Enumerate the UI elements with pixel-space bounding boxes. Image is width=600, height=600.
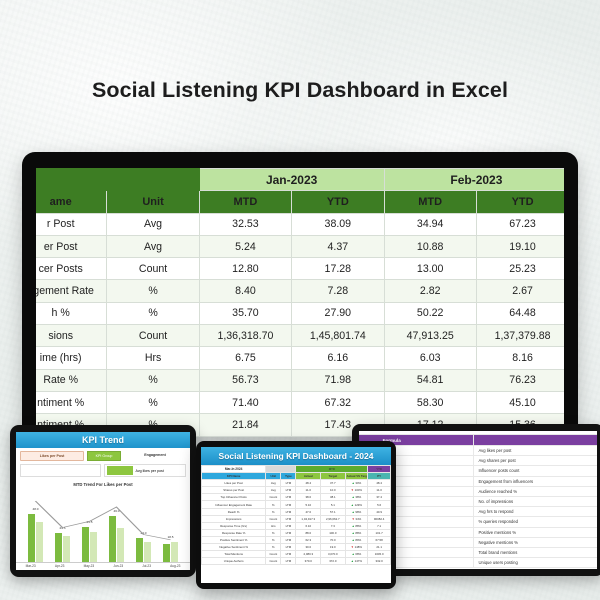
cell-py: 48.4	[368, 480, 391, 487]
cell-py: 101.7	[368, 529, 391, 536]
cell-value: 13.00	[384, 258, 476, 280]
table-row: sionsCount1,36,318.701,45,801.7447,913.2…	[36, 325, 564, 347]
cell-description: Avg likes per post	[474, 446, 597, 456]
page-title: Social Listening KPI Dashboard in Excel	[0, 78, 600, 103]
cell-value: 64.48	[476, 302, 564, 324]
trend-chart-plot: 48.029.535.546.024.018.5	[22, 488, 184, 562]
cell-vs-target: ▼ 100%	[345, 487, 368, 494]
cell-value: 47,913.25	[384, 325, 476, 347]
cell-value: 2.82	[384, 280, 476, 302]
cell-description: Avg hrs to respond	[474, 507, 597, 517]
table-row: ime (hrs)Hrs6.756.166.038.167.1118.3	[36, 347, 564, 369]
dashboard-2024-title: Social Listening KPI Dashboard - 2024	[201, 447, 391, 465]
cell-kpi-name: cer Posts	[36, 258, 107, 280]
cell-vs-target: ▲ 98%	[345, 508, 368, 515]
cell-kpi-name: Positive Sentiment %	[202, 536, 266, 543]
cell-value: 54.81	[384, 369, 476, 391]
table-row: Rate %%56.7371.9854.8176.23101.7095.4	[36, 369, 564, 391]
cell-py: 37.4	[368, 494, 391, 501]
cell-actual: 48.4	[296, 480, 321, 487]
kpi-group-slicer[interactable]: KPI Group	[87, 451, 121, 461]
arrow-up-icon: ▲	[352, 481, 355, 485]
cell-value: 8.40	[199, 280, 291, 302]
cell-value: 58.30	[384, 391, 476, 413]
cell-value: 76.23	[476, 369, 564, 391]
cell-type: LTM	[281, 515, 296, 522]
kpi-filter-pill[interactable]: Likes per Post	[20, 451, 84, 461]
cell-value: 5.24	[199, 235, 291, 257]
cell-py: 67.58	[368, 536, 391, 543]
arrow-down-icon: ▼	[352, 517, 355, 521]
x-tick-label: Mar-23	[26, 564, 36, 568]
cell-kpi-name: Likes per Post	[202, 480, 266, 487]
cell-target: 57.1	[321, 508, 346, 515]
month-header-row: Jan-2023 Feb-2023 Mar-2023	[36, 169, 564, 191]
description-col-header	[474, 435, 597, 446]
laptop-device: Jan-2023 Feb-2023 Mar-2023 ame Unit MTD …	[22, 152, 578, 437]
cell-type: LTM	[281, 501, 296, 508]
dash-col-type: Type	[281, 473, 296, 480]
cell-py: 40.9	[368, 508, 391, 515]
cell-kpi-name: Negative Sentiment %	[202, 544, 266, 551]
cell-kpi-name: sions	[36, 325, 107, 347]
cell-type: LTM	[281, 480, 296, 487]
cell-unit: Count	[266, 558, 281, 565]
cell-vs-target: ▼ 148%	[345, 544, 368, 551]
cell-kpi-name: Top Influencer Posts	[202, 494, 266, 501]
cell-description: Audience reached %	[474, 486, 597, 496]
cell-py: 7.1	[368, 522, 391, 529]
cell-unit: Avg	[266, 487, 281, 494]
cell-actual: 5.10	[296, 501, 321, 508]
cell-unit: Avg	[266, 480, 281, 487]
dash-col-actual: Actual	[296, 473, 321, 480]
dash-col-unit: Unit	[266, 473, 281, 480]
cell-target: 37.7	[321, 480, 346, 487]
cell-unit: Hrs	[266, 522, 281, 529]
cell-value: 50.22	[384, 302, 476, 324]
kpi-trend-filter-row: Likes per Post KPI Group Engagement	[16, 448, 190, 464]
cell-value: 67.32	[292, 391, 384, 413]
cell-value: 67.23	[476, 213, 564, 235]
cell-target: 5.1	[321, 501, 346, 508]
cell-unit: %	[266, 536, 281, 543]
cell-target: 372.0	[321, 558, 346, 565]
cell-description: Influencer posts count	[474, 466, 597, 476]
measure-button[interactable]	[107, 466, 133, 475]
cell-unit: %	[266, 508, 281, 515]
cell-kpi-name: Total Mentions	[202, 551, 266, 558]
cell-actual: 30.0	[296, 544, 321, 551]
x-tick-label: Jun-23	[113, 564, 123, 568]
kpi-measure-box: Avg likes per post	[104, 464, 187, 477]
table-row: Shares per PostAvgLTM11.010.0▼ 100%11.0	[202, 487, 391, 494]
cell-value: 71.40	[199, 391, 291, 413]
kpi-trend-title: KPI Trend	[16, 432, 190, 448]
cell-py: 5.6	[368, 501, 391, 508]
cell-unit: Avg	[107, 213, 199, 235]
arrow-up-icon: ▲	[352, 552, 355, 556]
cell-value: 7.28	[292, 280, 384, 302]
table-row: Top Influencer PostsCountLTM38.038.1▲ 38…	[202, 494, 391, 501]
cell-kpi-name: h %	[36, 302, 107, 324]
table-row: Influencer Engagement Rate%LTM5.105.1▲ 1…	[202, 501, 391, 508]
tablet-left-device: KPI Trend Likes per Post KPI Group Engag…	[10, 425, 196, 577]
cell-value: 1,45,801.74	[292, 325, 384, 347]
col-header-name: ame	[36, 191, 107, 213]
cell-kpi-name: er Post	[36, 235, 107, 257]
cell-value: 71.98	[292, 369, 384, 391]
col-header-unit: Unit	[107, 191, 199, 213]
cell-actual: 38.0	[296, 494, 321, 501]
cell-target: 2,96,662.7	[321, 515, 346, 522]
cell-vs-target: ▲ 88%	[345, 529, 368, 536]
table-row: Response Rate %%LTM88.0100.0▲ 88%101.7	[202, 529, 391, 536]
dash-col-vs: Actual VS Target	[345, 473, 368, 480]
cell-description: Avg shares per post	[474, 456, 597, 466]
cell-actual: 47.0	[296, 508, 321, 515]
table-row: r PostAvg32.5338.0934.9467.2348.36152.	[36, 213, 564, 235]
cell-type: LTM	[281, 551, 296, 558]
cell-kpi-name: ime (hrs)	[36, 347, 107, 369]
cell-unit: Count	[266, 515, 281, 522]
cell-kpi-name: Shares per Post	[202, 487, 266, 494]
cell-target: 100.0	[321, 529, 346, 536]
table-row: ntiment %%71.4067.3258.3045.1067.5850.8	[36, 391, 564, 413]
measure-caption: Avg likes per post	[136, 469, 164, 473]
cell-value: 4.37	[292, 235, 384, 257]
cell-py: 90082.4	[368, 515, 391, 522]
cell-unit: Hrs	[107, 347, 199, 369]
cell-value: 45.10	[476, 391, 564, 413]
cell-value: 807.84	[199, 436, 291, 437]
dash-group-row: Mar-In 2024 MTD YTD	[202, 466, 391, 473]
cell-kpi-name: r Post	[36, 213, 107, 235]
kpi-master-table: Jan-2023 Feb-2023 Mar-2023 ame Unit MTD …	[36, 168, 564, 437]
arrow-up-icon: ▲	[352, 510, 355, 514]
corner-cell-name	[36, 169, 107, 191]
cell-unit: %	[266, 544, 281, 551]
x-tick-label: May-23	[84, 564, 95, 568]
table-row: h %%35.7027.9050.2264.4842.9229.9	[36, 302, 564, 324]
arrow-up-icon: ▲	[351, 503, 354, 507]
dash-period-label: Mar-In 2024	[202, 466, 266, 473]
cell-type: LTM	[281, 558, 296, 565]
cell-value: 27.90	[292, 302, 384, 324]
dash-group-ytd: YTD	[368, 466, 391, 473]
cell-py: 1645.0	[368, 551, 391, 558]
cell-type: LTM	[281, 536, 296, 543]
cell-unit: Count	[266, 494, 281, 501]
table-row: Unique AuthorsCountLTM370.0372.0▲ 147%33…	[202, 558, 391, 565]
corner-cell-unit	[107, 169, 199, 191]
cell-kpi-name: Response Time (hrs)	[202, 522, 266, 529]
cell-value: 1,37,379.88	[476, 325, 564, 347]
cell-value: 56.73	[199, 369, 291, 391]
dashboard-2024-screen: Social Listening KPI Dashboard - 2024 Ma…	[201, 447, 391, 583]
cell-unit: Count	[107, 325, 199, 347]
table-row: ImpressionsCountLTM1,04,917.32,96,662.7▼…	[202, 515, 391, 522]
col-header-feb-mtd: MTD	[384, 191, 476, 213]
cell-value: 1,36,318.70	[199, 325, 291, 347]
cell-value: 35.70	[199, 302, 291, 324]
cell-type: LTM	[281, 544, 296, 551]
cell-vs-target: ▲ 89%	[345, 536, 368, 543]
x-tick-label: Aug-23	[170, 564, 180, 568]
dash-table-body: Likes per PostAvgLTM48.437.7▲ 30%48.4Sha…	[202, 480, 391, 565]
cell-description: Unique users posting	[474, 558, 597, 568]
cell-unit: %	[107, 302, 199, 324]
cell-target: 10.0	[321, 487, 346, 494]
arrow-down-icon: ▼	[351, 488, 354, 492]
cell-target: 19.0	[321, 544, 346, 551]
cell-description: Positive mentions %	[474, 527, 597, 537]
table-body: r PostAvg32.5338.0934.9467.2348.36152.er…	[36, 213, 564, 437]
kpi-blank-box	[20, 464, 101, 477]
col-header-jan-mtd: MTD	[199, 191, 291, 213]
sub-header-row: ame Unit MTD YTD MTD YTD MTD YTD	[36, 191, 564, 213]
dash-col-kpi: KPI Name	[202, 473, 266, 480]
table-row: Likes per PostAvgLTM48.437.7▲ 30%48.4	[202, 480, 391, 487]
dash-col-py: PY	[368, 473, 391, 480]
dash-col-target: Target	[321, 473, 346, 480]
arrow-up-icon: ▲	[352, 524, 355, 528]
x-tick-label: Apr-23	[55, 564, 65, 568]
cell-unit: %	[266, 501, 281, 508]
cell-py: 21.1	[368, 544, 391, 551]
arrow-up-icon: ▲	[352, 531, 355, 535]
cell-vs-target: ▲ 30%	[345, 480, 368, 487]
cell-type: LTM	[281, 508, 296, 515]
table-row: Reach %%LTM47.057.1▲ 98%40.9	[202, 508, 391, 515]
cell-value: 12.80	[199, 258, 291, 280]
cell-vs-target: ▲ 147%	[345, 558, 368, 565]
cell-actual: 88.0	[296, 529, 321, 536]
cell-actual: 6.10	[296, 522, 321, 529]
py-trend-line	[22, 488, 184, 562]
cell-target: 70.0	[321, 536, 346, 543]
cell-target: 7.3	[321, 522, 346, 529]
table-row: Total MentionsCountLTM2,080.33,070.0▲ 68…	[202, 551, 391, 558]
table-row: Response Time (hrs)HrsLTM6.107.3▲ 88%7.1	[202, 522, 391, 529]
cell-kpi-name: Unique Authors	[202, 558, 266, 565]
month-header-jan: Jan-2023	[199, 169, 384, 191]
cell-value: 6.16	[292, 347, 384, 369]
cell-value: 38.09	[292, 213, 384, 235]
cell-type: LTM	[281, 529, 296, 536]
cell-unit: %	[266, 529, 281, 536]
cell-actual: 2,080.3	[296, 551, 321, 558]
cell-py: 332.0	[368, 558, 391, 565]
cell-value: 8.16	[476, 347, 564, 369]
cell-unit: Count	[266, 551, 281, 558]
laptop-screen: Jan-2023 Feb-2023 Mar-2023 ame Unit MTD …	[36, 168, 564, 437]
dashboard-2024-table: Mar-In 2024 MTD YTD KPI Name Unit Type A…	[201, 465, 391, 565]
cell-vs-target: ▼ 34%	[345, 515, 368, 522]
cell-value: 2.67	[476, 280, 564, 302]
cell-actual: 11.0	[296, 487, 321, 494]
cell-value: 25.23	[476, 258, 564, 280]
cell-target: 38.1	[321, 494, 346, 501]
table-row: Positive Sentiment %%LTM62.370.0▲ 89%67.…	[202, 536, 391, 543]
cell-kpi-name: Influencer Engagement Rate	[202, 501, 266, 508]
arrow-up-icon: ▲	[352, 495, 355, 499]
cell-description: % queries responded	[474, 517, 597, 527]
table-row: er PostAvg5.244.3710.8819.1011.0432.8	[36, 235, 564, 257]
cell-vs-target: ▲ 68%	[345, 551, 368, 558]
table-row: Negative Sentiment %%LTM30.019.0▼ 148%21…	[202, 544, 391, 551]
cell-type: LTM	[281, 487, 296, 494]
cell-kpi-name: Rate %	[36, 369, 107, 391]
col-header-feb-ytd: YTD	[476, 191, 564, 213]
cell-value: 19.10	[476, 235, 564, 257]
cell-py: 11.0	[368, 487, 391, 494]
cell-value: 10.88	[384, 235, 476, 257]
x-tick-label: Jul-23	[142, 564, 151, 568]
cell-unit: Count	[107, 258, 199, 280]
cell-description: Total brand mentions	[474, 547, 597, 557]
cell-kpi-name: ntiment %	[36, 391, 107, 413]
cell-type: LTM	[281, 522, 296, 529]
cell-description: Engagement from influencers	[474, 476, 597, 486]
cell-unit: Avg	[107, 235, 199, 257]
cell-vs-target: ▲ 38%	[345, 494, 368, 501]
cell-unit: %	[107, 391, 199, 413]
cell-actual: 370.0	[296, 558, 321, 565]
cell-vs-target: ▲ 88%	[345, 522, 368, 529]
cell-vs-target: ▲ 129%	[345, 501, 368, 508]
cell-kpi-name: Impressions	[202, 515, 266, 522]
arrow-up-icon: ▲	[351, 559, 354, 563]
cell-value: 6.03	[384, 347, 476, 369]
col-header-jan-ytd: YTD	[292, 191, 384, 213]
cell-description: Negative mentions %	[474, 537, 597, 547]
cell-kpi-name: Response Rate %	[202, 529, 266, 536]
arrow-up-icon: ▲	[352, 538, 355, 542]
cell-target: 3,070.0	[321, 551, 346, 558]
table-row: agement Rate%8.407.282.822.675.647.5	[36, 280, 564, 302]
dash-table-head: Mar-In 2024 MTD YTD KPI Name Unit Type A…	[202, 466, 391, 480]
cell-value: 32.53	[199, 213, 291, 235]
trend-chart-title: MTD Trend For Likes per Post	[16, 482, 190, 487]
cell-unit: %	[107, 280, 199, 302]
cell-value: 6.75	[199, 347, 291, 369]
cell-actual: 1,04,917.3	[296, 515, 321, 522]
cell-type: LTM	[281, 494, 296, 501]
dash-header-row: KPI Name Unit Type Actual Target Actual …	[202, 473, 391, 480]
table-row: cer PostsCount12.8017.2813.0025.2337.406…	[36, 258, 564, 280]
arrow-down-icon: ▼	[351, 545, 354, 549]
tablet-mid-device: Social Listening KPI Dashboard - 2024 Ma…	[196, 441, 396, 589]
cell-kpi-name: agement Rate	[36, 280, 107, 302]
kpi-trend-measure-row: Avg likes per post	[16, 464, 190, 480]
dash-group-mtd: MTD	[296, 466, 368, 473]
cell-kpi-name: Reach %	[202, 508, 266, 515]
kpi-group-value: Engagement	[124, 451, 186, 461]
cell-description: No. of impressions	[474, 496, 597, 506]
cell-value: 34.94	[384, 213, 476, 235]
table-head: Jan-2023 Feb-2023 Mar-2023 ame Unit MTD …	[36, 169, 564, 214]
cell-actual: 62.3	[296, 536, 321, 543]
trend-x-axis: Mar-23Apr-23May-23Jun-23Jul-23Aug-23	[16, 562, 190, 568]
cell-unit: %	[107, 369, 199, 391]
cell-value: 21.84	[199, 414, 291, 436]
month-header-feb: Feb-2023	[384, 169, 564, 191]
dash-grey-spacer	[266, 466, 296, 473]
kpi-trend-screen: KPI Trend Likes per Post KPI Group Engag…	[16, 432, 190, 570]
cell-value: 17.28	[292, 258, 384, 280]
